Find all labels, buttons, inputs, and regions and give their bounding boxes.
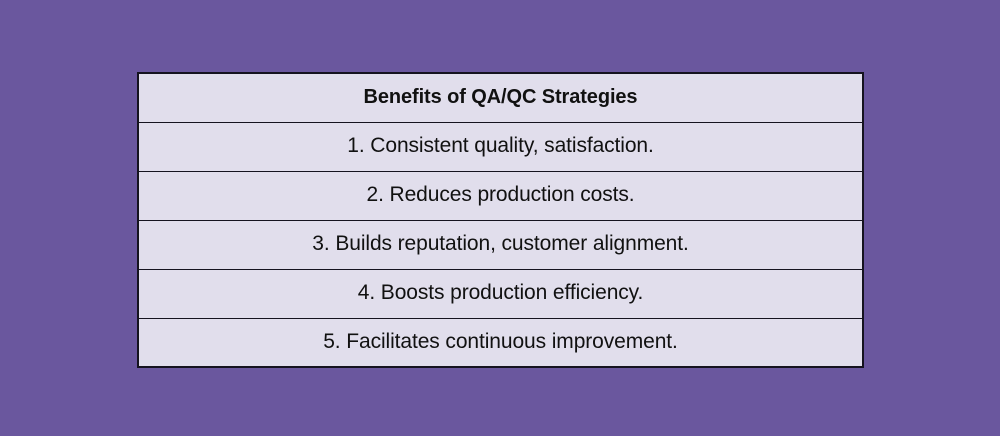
table-body-group: 1. Consistent quality, satisfaction. 2. … [138, 122, 863, 367]
benefit-text-5: 5. Facilitates continuous improvement. [323, 330, 678, 354]
benefit-cell-4: 4. Boosts production efficiency. [138, 269, 863, 318]
table-row: 3. Builds reputation, customer alignment… [138, 220, 863, 269]
benefits-table: Benefits of QA/QC Strategies 1. Consiste… [137, 72, 864, 368]
table-header-group: Benefits of QA/QC Strategies [138, 73, 863, 122]
benefit-cell-5: 5. Facilitates continuous improvement. [138, 318, 863, 367]
benefit-text-4: 4. Boosts production efficiency. [358, 281, 644, 305]
slide-canvas: Benefits of QA/QC Strategies 1. Consiste… [0, 0, 1000, 436]
table-title-cell: Benefits of QA/QC Strategies [138, 73, 863, 122]
benefit-cell-3: 3. Builds reputation, customer alignment… [138, 220, 863, 269]
benefit-text-1: 1. Consistent quality, satisfaction. [347, 134, 654, 158]
benefit-cell-1: 1. Consistent quality, satisfaction. [138, 122, 863, 171]
table-row: 4. Boosts production efficiency. [138, 269, 863, 318]
table-row: 2. Reduces production costs. [138, 171, 863, 220]
benefit-text-3: 3. Builds reputation, customer alignment… [312, 232, 688, 256]
table-row: 5. Facilitates continuous improvement. [138, 318, 863, 367]
table-title-text: Benefits of QA/QC Strategies [364, 86, 638, 109]
benefit-cell-2: 2. Reduces production costs. [138, 171, 863, 220]
benefit-text-2: 2. Reduces production costs. [366, 183, 634, 207]
table-header-row: Benefits of QA/QC Strategies [138, 73, 863, 122]
table-row: 1. Consistent quality, satisfaction. [138, 122, 863, 171]
benefits-table-container: Benefits of QA/QC Strategies 1. Consiste… [137, 72, 864, 366]
